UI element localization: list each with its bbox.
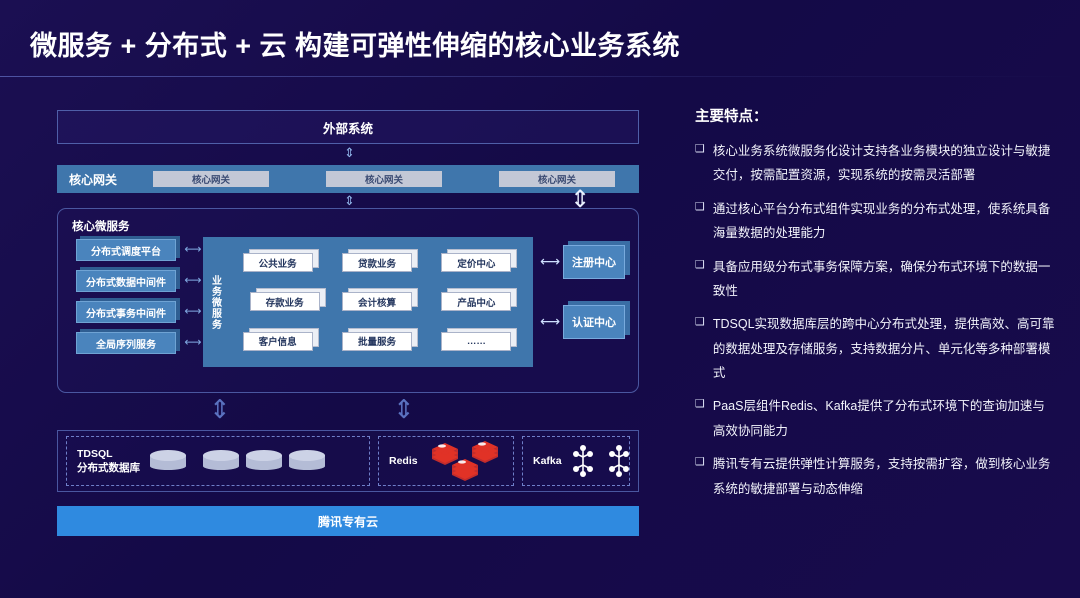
core-component-label: 分布式调度平台: [76, 239, 176, 261]
connector-ext-to-gateway: ⇕: [344, 146, 355, 159]
business-service-card[interactable]: 公共业务: [243, 253, 319, 272]
bullet-square-icon: ❑: [695, 394, 705, 443]
business-service-card[interactable]: 存款业务: [250, 292, 326, 311]
kafka-node-icon-group: [572, 444, 630, 478]
core-component-item[interactable]: 分布式调度平台 ⟷: [76, 239, 180, 261]
business-service-label: 贷款业务: [342, 253, 412, 272]
business-service-grid: 公共业务 贷款业务 定价中心 存款业务: [227, 237, 533, 367]
business-service-label: 客户信息: [243, 332, 313, 351]
business-service-card[interactable]: 客户信息: [243, 332, 319, 351]
cloud-bar: 腾讯专有云: [57, 506, 639, 536]
data-layer-container: TDSQL 分布式数据库 Redis: [57, 430, 639, 492]
service-centers-column: ⟷ 注册中心 ⟷ 认证中心: [563, 245, 635, 365]
redis-label: Redis: [389, 454, 418, 468]
business-service-label: 公共业务: [243, 253, 313, 272]
features-panel-title: 主要特点：: [695, 105, 1055, 126]
gateway-chip: 核心网关: [499, 171, 615, 187]
kafka-block: Kafka: [522, 436, 630, 486]
gateway-chip: 核心网关: [153, 171, 269, 187]
kafka-node-icon: [608, 444, 630, 478]
core-component-item[interactable]: 全局序列服务 ⟷: [76, 332, 180, 354]
feature-bullet: ❑ 通过核心平台分布式组件实现业务的分布式处理，使系统具备海量数据的处理能力: [695, 197, 1055, 246]
tdsql-label-line1: TDSQL: [77, 448, 113, 460]
bullet-square-icon: ❑: [695, 197, 705, 246]
features-panel: 主要特点： ❑ 核心业务系统微服务化设计支持各业务模块的独立设计与敏捷交付，按需…: [695, 105, 1055, 510]
database-cylinder-icon: [203, 450, 239, 472]
business-service-label: 批量服务: [342, 332, 412, 351]
database-cylinder-icon: [150, 450, 186, 472]
page-title: 微服务 + 分布式 + 云 构建可弹性伸缩的核心业务系统: [30, 24, 680, 63]
feature-bullet: ❑ 腾讯专有云提供弹性计算服务，支持按需扩容，做到核心业务系统的敏捷部署与动态伸…: [695, 452, 1055, 501]
service-center-label: 注册中心: [563, 245, 625, 279]
core-microservices-container: 核心微服务 分布式调度平台 ⟷ 分布式数据中间件 ⟷ 分布式事务中间件 ⟷: [57, 208, 639, 393]
feature-bullet: ❑ 具备应用级分布式事务保障方案，确保分布式环境下的数据一致性: [695, 255, 1055, 304]
core-component-label: 全局序列服务: [76, 332, 176, 354]
feature-bullet-text: PaaS层组件Redis、Kafka提供了分布式环境下的查询加速与高效协同能力: [713, 394, 1055, 443]
core-component-item[interactable]: 分布式数据中间件 ⟷: [76, 270, 180, 292]
external-system-label: 外部系统: [323, 118, 373, 137]
business-service-label: 会计核算: [342, 292, 412, 311]
cloud-bar-label: 腾讯专有云: [318, 513, 378, 530]
redis-cube-icon: [428, 439, 504, 483]
feature-bullet: ❑ TDSQL实现数据库层的跨中心分布式处理，提供高效、高可靠的数据处理及存储服…: [695, 312, 1055, 385]
business-microservices-panel: 业务微服务 公共业务 贷款业务 定价中心: [203, 237, 533, 367]
gateway-chip-list: 核心网关 核心网关 核心网关: [153, 171, 639, 187]
core-component-label: 分布式数据中间件: [76, 270, 176, 292]
core-microservices-title: 核心微服务: [72, 218, 130, 234]
title-divider: [0, 76, 1080, 77]
kafka-label: Kafka: [533, 454, 562, 468]
core-component-label: 分布式事务中间件: [76, 301, 176, 323]
business-service-label: 定价中心: [441, 253, 511, 272]
business-service-card[interactable]: 产品中心: [441, 292, 517, 311]
redis-cube-icon-group: [428, 439, 504, 483]
redis-block: Redis: [378, 436, 514, 486]
feature-bullet-text: 通过核心平台分布式组件实现业务的分布式处理，使系统具备海量数据的处理能力: [713, 197, 1055, 246]
gateway-chip: 核心网关: [326, 171, 442, 187]
service-center-item[interactable]: ⟷ 认证中心: [563, 305, 635, 339]
tdsql-label: TDSQL 分布式数据库: [77, 447, 140, 475]
bullet-square-icon: ❑: [695, 255, 705, 304]
feature-bullet-text: 核心业务系统微服务化设计支持各业务模块的独立设计与敏捷交付，按需配置资源，实现系…: [713, 139, 1055, 188]
tdsql-block: TDSQL 分布式数据库: [66, 436, 370, 486]
business-service-card[interactable]: ……: [441, 332, 517, 351]
core-component-item[interactable]: 分布式事务中间件 ⟷: [76, 301, 180, 323]
bullet-square-icon: ❑: [695, 139, 705, 188]
database-cylinder-icon: [289, 450, 325, 472]
gateway-band: 核心网关 核心网关 核心网关 核心网关: [57, 165, 639, 193]
external-system-band: 外部系统: [57, 110, 639, 144]
business-service-label: 存款业务: [250, 292, 320, 311]
feature-bullet-text: TDSQL实现数据库层的跨中心分布式处理，提供高效、高可靠的数据处理及存储服务，…: [713, 312, 1055, 385]
business-service-label: 产品中心: [441, 292, 511, 311]
connector-gateway-to-core: ⇕: [344, 194, 355, 207]
service-center-item[interactable]: ⟷ 注册中心: [563, 245, 635, 279]
database-cylinder-group: [150, 450, 325, 472]
feature-bullet-text: 具备应用级分布式事务保障方案，确保分布式环境下的数据一致性: [713, 255, 1055, 304]
tdsql-label-line2: 分布式数据库: [77, 462, 140, 474]
business-service-label: ……: [441, 332, 511, 351]
feature-bullet: ❑ 核心业务系统微服务化设计支持各业务模块的独立设计与敏捷交付，按需配置资源，实…: [695, 139, 1055, 188]
gateway-label: 核心网关: [69, 171, 153, 188]
business-service-card[interactable]: 批量服务: [342, 332, 418, 351]
business-service-card[interactable]: 定价中心: [441, 253, 517, 272]
business-microservices-label: 业务微服务: [203, 237, 227, 367]
feature-bullet: ❑ PaaS层组件Redis、Kafka提供了分布式环境下的查询加速与高效协同能…: [695, 394, 1055, 443]
business-service-card[interactable]: 贷款业务: [342, 253, 418, 272]
service-center-label: 认证中心: [563, 305, 625, 339]
business-service-card[interactable]: 会计核算: [342, 292, 418, 311]
database-cylinder-icon: [246, 450, 282, 472]
bullet-square-icon: ❑: [695, 312, 705, 385]
double-arrow-icon: ⟷: [539, 315, 561, 327]
core-left-column: 分布式调度平台 ⟷ 分布式数据中间件 ⟷ 分布式事务中间件 ⟷ 全局序列服务 ⟷: [76, 239, 180, 363]
connector-core-to-data-right: ⇕: [393, 396, 415, 422]
feature-bullet-text: 腾讯专有云提供弹性计算服务，支持按需扩容，做到核心业务系统的敏捷部署与动态伸缩: [713, 452, 1055, 501]
double-arrow-icon: ⟷: [539, 255, 561, 267]
slide-root: 微服务 + 分布式 + 云 构建可弹性伸缩的核心业务系统 外部系统 ⇕ 核心网关…: [0, 0, 1080, 598]
kafka-node-icon: [572, 444, 594, 478]
architecture-diagram: 外部系统 ⇕ 核心网关 核心网关 核心网关 核心网关 ⇕ ⇕ 核心微服务 分布式…: [57, 110, 639, 540]
bullet-square-icon: ❑: [695, 452, 705, 501]
connector-core-to-data-left: ⇕: [209, 396, 231, 422]
